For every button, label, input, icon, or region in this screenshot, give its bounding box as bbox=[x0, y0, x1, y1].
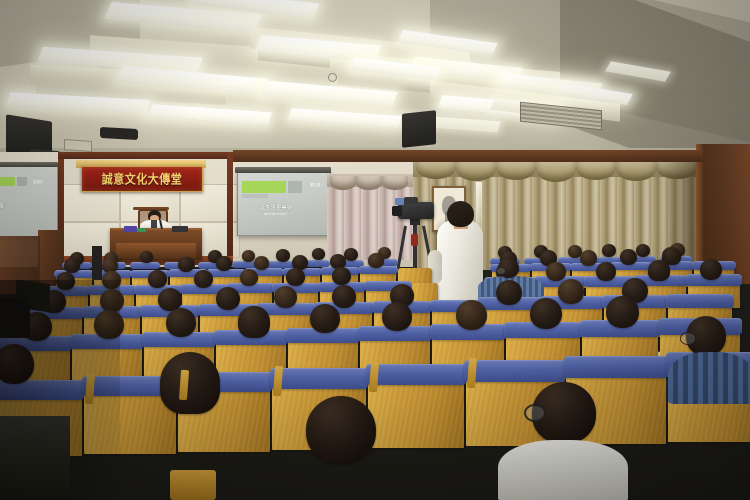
video-camera-lcd-screen bbox=[395, 198, 404, 205]
tripod-clamp bbox=[411, 234, 418, 246]
banner-text: 誠意文化大傳堂 bbox=[102, 170, 183, 188]
left-dark-object bbox=[92, 246, 102, 280]
side-slide-title: 公开课 bbox=[0, 201, 4, 210]
desk-item-green bbox=[137, 228, 146, 232]
ceiling-sensor-icon bbox=[328, 73, 337, 82]
tripod-head bbox=[410, 218, 420, 225]
valance-swag-c3 bbox=[382, 176, 408, 190]
banner-calligraphy: 誠意文化大傳堂 bbox=[81, 166, 203, 192]
main-slide-title: 让生活更美好 bbox=[260, 204, 292, 211]
cameraman-head bbox=[447, 201, 474, 227]
main-projection-screen: 让生活更美好 BETTER LIVING 第三讲 bbox=[237, 172, 331, 236]
wall-frame-top bbox=[58, 152, 233, 159]
foreground-head-center bbox=[306, 396, 376, 464]
ceiling-equipment-box bbox=[64, 139, 92, 152]
main-slide-badge: 第三讲 bbox=[310, 182, 320, 187]
wood-cornice bbox=[233, 150, 703, 162]
foreground-shoulders-right bbox=[498, 440, 628, 500]
cameraman-body bbox=[437, 220, 483, 304]
valance-swag-c2 bbox=[356, 176, 382, 190]
side-projection-screen: 公开课 直播中 bbox=[0, 166, 58, 238]
side-slide-badge: 直播中 bbox=[33, 179, 43, 184]
seat-edge-foreground bbox=[170, 470, 216, 500]
video-camera-viewfinder bbox=[404, 197, 418, 204]
glasses-foreground-right bbox=[524, 404, 546, 422]
ceiling-light-15 bbox=[148, 104, 272, 125]
side-screen-roller bbox=[0, 162, 58, 167]
main-screen-roller bbox=[235, 167, 331, 173]
main-slide-subtitle: BETTER LIVING bbox=[264, 212, 287, 216]
valance-swag-c1 bbox=[330, 176, 356, 190]
auditorium-photo: 誠意文化大傳堂 公开课 直播中 让生活更美好 BETTER LIVING 第三讲 bbox=[0, 0, 750, 500]
desk-item-book bbox=[124, 226, 137, 232]
video-camera-lens bbox=[392, 206, 402, 216]
aisle-floor bbox=[0, 416, 70, 500]
ceiling-projector bbox=[100, 127, 138, 140]
desk-item-laptop bbox=[172, 226, 188, 232]
wall-frame-right bbox=[227, 152, 233, 260]
loudspeaker-right bbox=[402, 110, 436, 148]
attendee-right-shirt bbox=[668, 352, 750, 404]
ceiling-light-16 bbox=[288, 108, 402, 127]
foreground-head-woman bbox=[160, 352, 220, 414]
